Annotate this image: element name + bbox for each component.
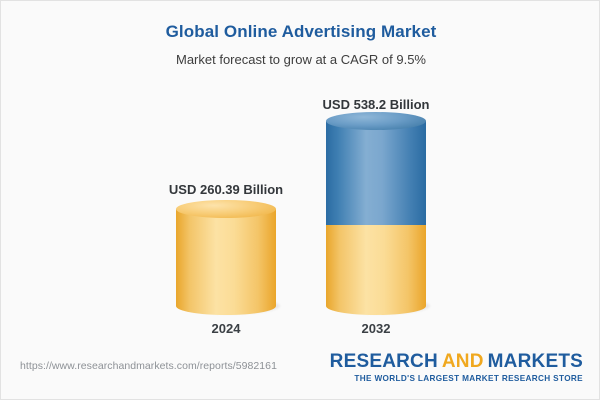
cylinder-body-upper-2032 <box>326 121 426 225</box>
logo-word-markets: MARKETS <box>488 351 583 372</box>
cylinder-body-lower-2032 <box>326 224 426 306</box>
plot-area: USD 260.39 Billion 2024 USD 538.2 Billio… <box>1 81 600 346</box>
source-url-link[interactable]: https://www.researchandmarkets.com/repor… <box>20 360 277 372</box>
bar-segment-2024-value <box>176 209 276 306</box>
logo-word-and: AND <box>438 351 488 372</box>
chart-card: Global Online Advertising Market Market … <box>0 0 600 400</box>
cylinder-body-2024 <box>176 209 276 306</box>
bar-segment-2032-base <box>326 224 426 306</box>
logo-tagline: THE WORLD'S LARGEST MARKET RESEARCH STOR… <box>330 374 583 383</box>
chart-title: Global Online Advertising Market <box>1 22 600 42</box>
bar-segment-2032-growth <box>326 121 426 225</box>
category-label-2032: 2032 <box>326 321 426 336</box>
value-label-2024: USD 260.39 Billion <box>106 182 346 197</box>
cylinder-top-2024 <box>176 200 276 218</box>
logo-word-research: RESEARCH <box>330 351 438 372</box>
footer: https://www.researchandmarkets.com/repor… <box>1 345 600 399</box>
category-label-2024: 2024 <box>176 321 276 336</box>
research-and-markets-logo[interactable]: RESEARCHANDMARKETS THE WORLD'S LARGEST M… <box>330 352 583 383</box>
cylinder-top-2032 <box>326 112 426 130</box>
chart-subtitle: Market forecast to grow at a CAGR of 9.5… <box>1 52 600 67</box>
logo-wordmark: RESEARCHANDMARKETS <box>330 352 583 372</box>
value-label-2032: USD 538.2 Billion <box>256 97 496 112</box>
